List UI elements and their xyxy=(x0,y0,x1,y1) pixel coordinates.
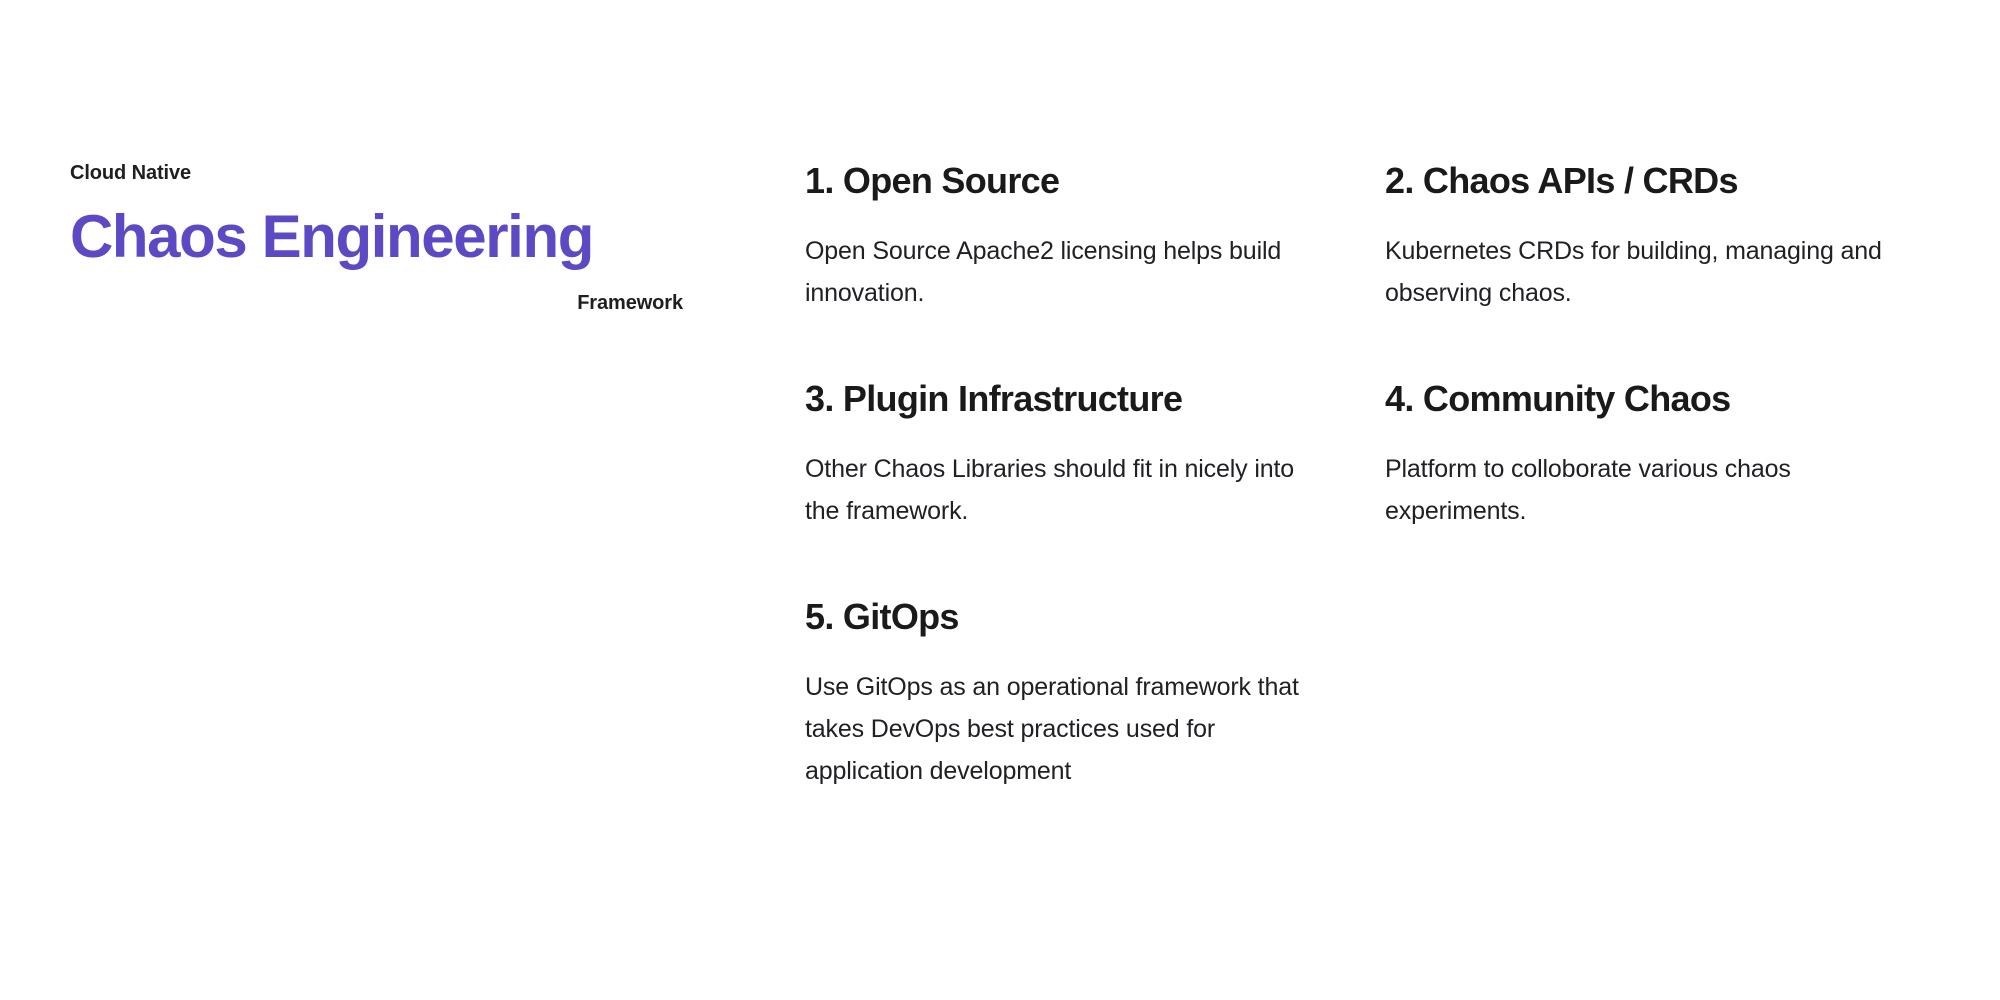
feature-description: Kubernetes CRDs for building, managing a… xyxy=(1385,230,1895,314)
feature-item: 3. Plugin Infrastructure Other Chaos Lib… xyxy=(805,378,1315,596)
title-subtitle: Framework xyxy=(70,290,683,316)
feature-description: Open Source Apache2 licensing helps buil… xyxy=(805,230,1315,314)
feature-item: 4. Community Chaos Platform to collobora… xyxy=(1385,378,1895,596)
feature-grid: 1. Open Source Open Source Apache2 licen… xyxy=(805,160,1935,814)
feature-description: Other Chaos Libraries should fit in nice… xyxy=(805,448,1315,532)
feature-title: 3. Plugin Infrastructure xyxy=(805,378,1315,420)
feature-item: 1. Open Source Open Source Apache2 licen… xyxy=(805,160,1315,378)
feature-description: Platform to colloborate various chaos ex… xyxy=(1385,448,1895,532)
feature-description: Use GitOps as an operational framework t… xyxy=(805,666,1315,792)
title-block: Cloud Native Chaos Engineering Framework xyxy=(70,160,683,316)
feature-title: 4. Community Chaos xyxy=(1385,378,1895,420)
slide-canvas: Cloud Native Chaos Engineering Framework… xyxy=(0,0,2000,1000)
feature-title: 1. Open Source xyxy=(805,160,1315,202)
feature-title: 5. GitOps xyxy=(805,596,1315,638)
title-eyebrow: Cloud Native xyxy=(70,160,683,186)
feature-title: 2. Chaos APIs / CRDs xyxy=(1385,160,1895,202)
feature-item: 2. Chaos APIs / CRDs Kubernetes CRDs for… xyxy=(1385,160,1895,378)
feature-item: 5. GitOps Use GitOps as an operational f… xyxy=(805,596,1315,814)
page-title: Chaos Engineering xyxy=(70,200,683,274)
